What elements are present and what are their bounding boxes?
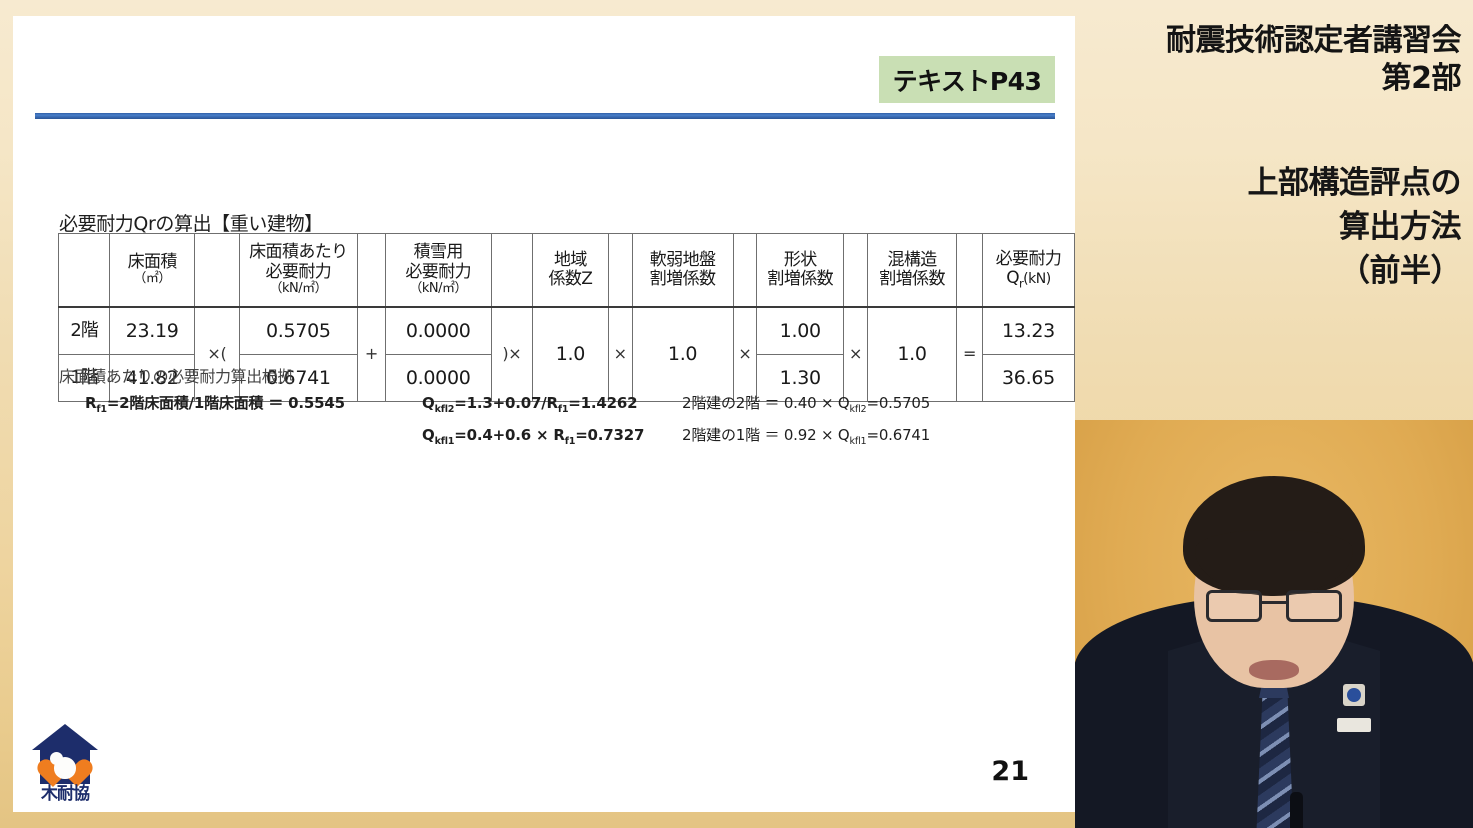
th-soft-ground-l1: 軟弱地盤 [650,250,716,270]
glasses-lens-left [1206,590,1262,622]
topic-title: 上部構造評点の 算出方法 （前半） [1085,161,1461,293]
formula-qkfl1-symbol: Q [422,426,435,444]
th-snow-l1: 積雪用 [414,242,463,262]
house-roof [32,724,98,750]
th-floor [59,234,110,308]
operator-equals: = [957,307,983,402]
text-reference-label: テキストP43 [893,62,1042,98]
formula-rf1-symbol: R [85,394,96,412]
th-qr-l1: 必要耐力 [996,249,1062,269]
text-reference-badge: テキストP43 [879,56,1055,103]
th-mixed-l1: 混構造 [887,250,936,270]
cell-shape-2f: 1.00 [757,307,844,355]
presenter-video [1075,420,1473,828]
th-zone-l1: 地域 [554,250,587,270]
operator-multiply-3: × [844,307,868,402]
operator-plus: + [358,307,386,402]
th-op1 [195,234,239,308]
topic-title-line1: 上部構造評点の [1085,161,1461,205]
bird-head [50,752,63,765]
formula-qkfl1-subscript2: f1 [565,436,575,447]
cell-qr-2f: 13.23 [982,307,1074,355]
basis-row-2: Qkfl1=0.4+0.6 × Rf1=0.7327 2階建の1階 ＝ 0.92… [85,424,985,450]
header-divider-rule [35,113,1055,119]
formula-qkfl2-body: =1.3+0.07/R [454,394,558,412]
formula-2f-result: 2階建の2階 ＝ 0.40 × Qkfl2=0.5705 [682,394,930,412]
basis-cell-2f-result: 2階建の2階 ＝ 0.40 × Qkfl2=0.5705 [682,392,982,418]
presentation-slide: テキストP43 必要耐力Qrの算出【重い建物】 床面積 （㎡） [13,16,1075,812]
th-shape-l2: 割増係数 [757,270,843,289]
th-shape-factor: 形状 割増係数 [757,234,844,308]
th-zone-coefficient: 地域 係数Z [533,234,609,308]
operator-multiply-open: ×( [195,307,239,402]
formula-1f-result: 2階建の1階 ＝ 0.92 × Qkfl1=0.6741 [682,426,930,444]
th-mixed-structure: 混構造 割増係数 [867,234,956,308]
table-caption: 必要耐力Qrの算出【重い建物】 [59,209,323,236]
formula-qkfl2-subscript: kfl2 [435,404,455,415]
th-op3 [491,234,532,308]
presenter-hair [1183,476,1365,594]
th-shape-l1: 形状 [784,250,817,270]
th-soft-ground: 軟弱地盤 割増係数 [632,234,733,308]
derivation-basis-block: 床面積あたりの必要耐力算出根拠 Rf1=2階床面積/1階床面積 ＝ 0.5545… [59,363,293,387]
basis-cell-1f-result: 2階建の1階 ＝ 0.92 × Qkfl1=0.6741 [682,424,982,450]
th-qr-l2: Qr(kN) [983,269,1074,290]
logo-text: 木耐協 [26,779,104,804]
th-snow-l2: 必要耐力 [386,263,491,282]
formula-qkfl2: Qkfl2=1.3+0.07/Rf1=1.4262 [422,394,637,412]
operator-multiply-2: × [733,307,757,402]
mokutaikyo-logo: 木耐協 [26,722,104,804]
glasses-bridge [1262,601,1286,604]
page-number: 21 [991,756,1029,787]
series-title-line2: 第2部 [1085,60,1461,98]
cell-mixed-structure: 1.0 [867,307,956,402]
th-snow-unit: （kN/㎡） [386,282,491,297]
th-floor-area-label: 床面積 [128,252,177,272]
presenter-name-tag [1337,718,1371,732]
presenter-mouth [1249,660,1299,680]
series-title: 耐震技術認定者講習会 第2部 [1085,22,1461,99]
th-op2 [358,234,386,308]
house-icon [32,724,98,784]
formula-2f-result-subscript: kfl2 [850,404,867,415]
th-op4 [608,234,632,308]
cell-floor-area-2f: 23.19 [110,307,195,355]
th-required-per-area-l2: 必要耐力 [240,263,358,282]
basis-cell-rf1: Rf1=2階床面積/1階床面積 ＝ 0.5545 [85,392,422,418]
th-required-per-area-unit: （kN/㎡） [240,282,358,297]
presenter-lapel-pin [1343,684,1365,706]
topic-title-line2: 算出方法 [1085,205,1461,249]
formula-rf1-body: =2階床面積/1階床面積 ＝ 0.5545 [107,394,345,412]
formula-2f-result-pre: 2階建の2階 ＝ 0.40 × Q [682,394,850,412]
cell-snow-2f: 0.0000 [385,307,491,355]
formula-qkfl1-body: =0.4+0.6 × R [454,426,564,444]
glasses-lens-right [1286,590,1342,622]
th-op6 [844,234,868,308]
formula-1f-result-post: =0.6741 [866,426,930,444]
cell-required-per-area-2f: 0.5705 [239,307,358,355]
formula-rf1-subscript: f1 [96,404,106,415]
formula-1f-result-subscript: kfl1 [850,436,867,447]
slide-stage: 耐震技術認定者講習会 第2部 上部構造評点の 算出方法 （前半） [0,0,1473,828]
operator-close-multiply: )× [491,307,532,402]
formula-qkfl1-subscript: kfl1 [435,436,455,447]
series-title-line1: 耐震技術認定者講習会 [1085,22,1461,60]
formula-1f-result-pre: 2階建の1階 ＝ 0.92 × Q [682,426,850,444]
th-op7 [957,234,983,308]
basis-heading: 床面積あたりの必要耐力算出根拠 [59,363,293,387]
glasses-icon [1206,590,1342,624]
formula-qkfl2-subscript2: f1 [558,404,568,415]
th-floor-area: 床面積 （㎡） [110,234,195,308]
th-floor-area-unit: （㎡） [110,272,194,287]
cell-qr-1f: 36.65 [982,355,1074,402]
formula-qkfl2-tail: =1.4262 [568,394,637,412]
th-zone-l2: 係数Z [533,270,608,289]
formula-2f-result-post: =0.5705 [866,394,930,412]
th-qr-symbol: Q [1006,268,1019,288]
formula-qkfl1: Qkfl1=0.4+0.6 × Rf1=0.7327 [422,426,644,444]
table-row: 2階 23.19 ×( 0.5705 + 0.0000 )× 1.0 × 1.0… [59,307,1075,355]
basis-row-1: Rf1=2階床面積/1階床面積 ＝ 0.5545 Qkfl2=1.3+0.07/… [85,392,985,418]
formula-rf1: Rf1=2階床面積/1階床面積 ＝ 0.5545 [85,394,345,412]
cell-zone-coefficient: 1.0 [533,307,609,402]
table-body: 2階 23.19 ×( 0.5705 + 0.0000 )× 1.0 × 1.0… [59,307,1075,402]
th-snow: 積雪用 必要耐力 （kN/㎡） [385,234,491,308]
operator-multiply-1: × [608,307,632,402]
th-op5 [733,234,757,308]
th-soft-ground-l2: 割増係数 [633,270,733,289]
cell-soft-ground: 1.0 [632,307,733,402]
formula-qkfl2-symbol: Q [422,394,435,412]
table-header-row: 床面積 （㎡） 床面積あたり 必要耐力 （kN/㎡） 積雪用 必要耐力 （kN/… [59,234,1075,308]
microphone-icon [1290,792,1303,828]
basis-cell-qkfl1: Qkfl1=0.4+0.6 × Rf1=0.7327 [422,424,682,450]
formula-qkfl1-tail: =0.7327 [575,426,644,444]
th-qr-unit: (kN) [1023,271,1051,287]
basis-formula-grid: Rf1=2階床面積/1階床面積 ＝ 0.5545 Qkfl2=1.3+0.07/… [85,392,985,456]
topic-title-line3: （前半） [1085,249,1461,293]
th-required-per-area-l1: 床面積あたり [249,242,347,262]
th-required-per-area: 床面積あたり 必要耐力 （kN/㎡） [239,234,358,308]
basis-cell-qkfl2: Qkfl2=1.3+0.07/Rf1=1.4262 [422,392,682,418]
th-required-strength-qr: 必要耐力 Qr(kN) [982,234,1074,308]
cell-floor-2f: 2階 [59,307,110,355]
th-mixed-l2: 割増係数 [868,270,956,289]
